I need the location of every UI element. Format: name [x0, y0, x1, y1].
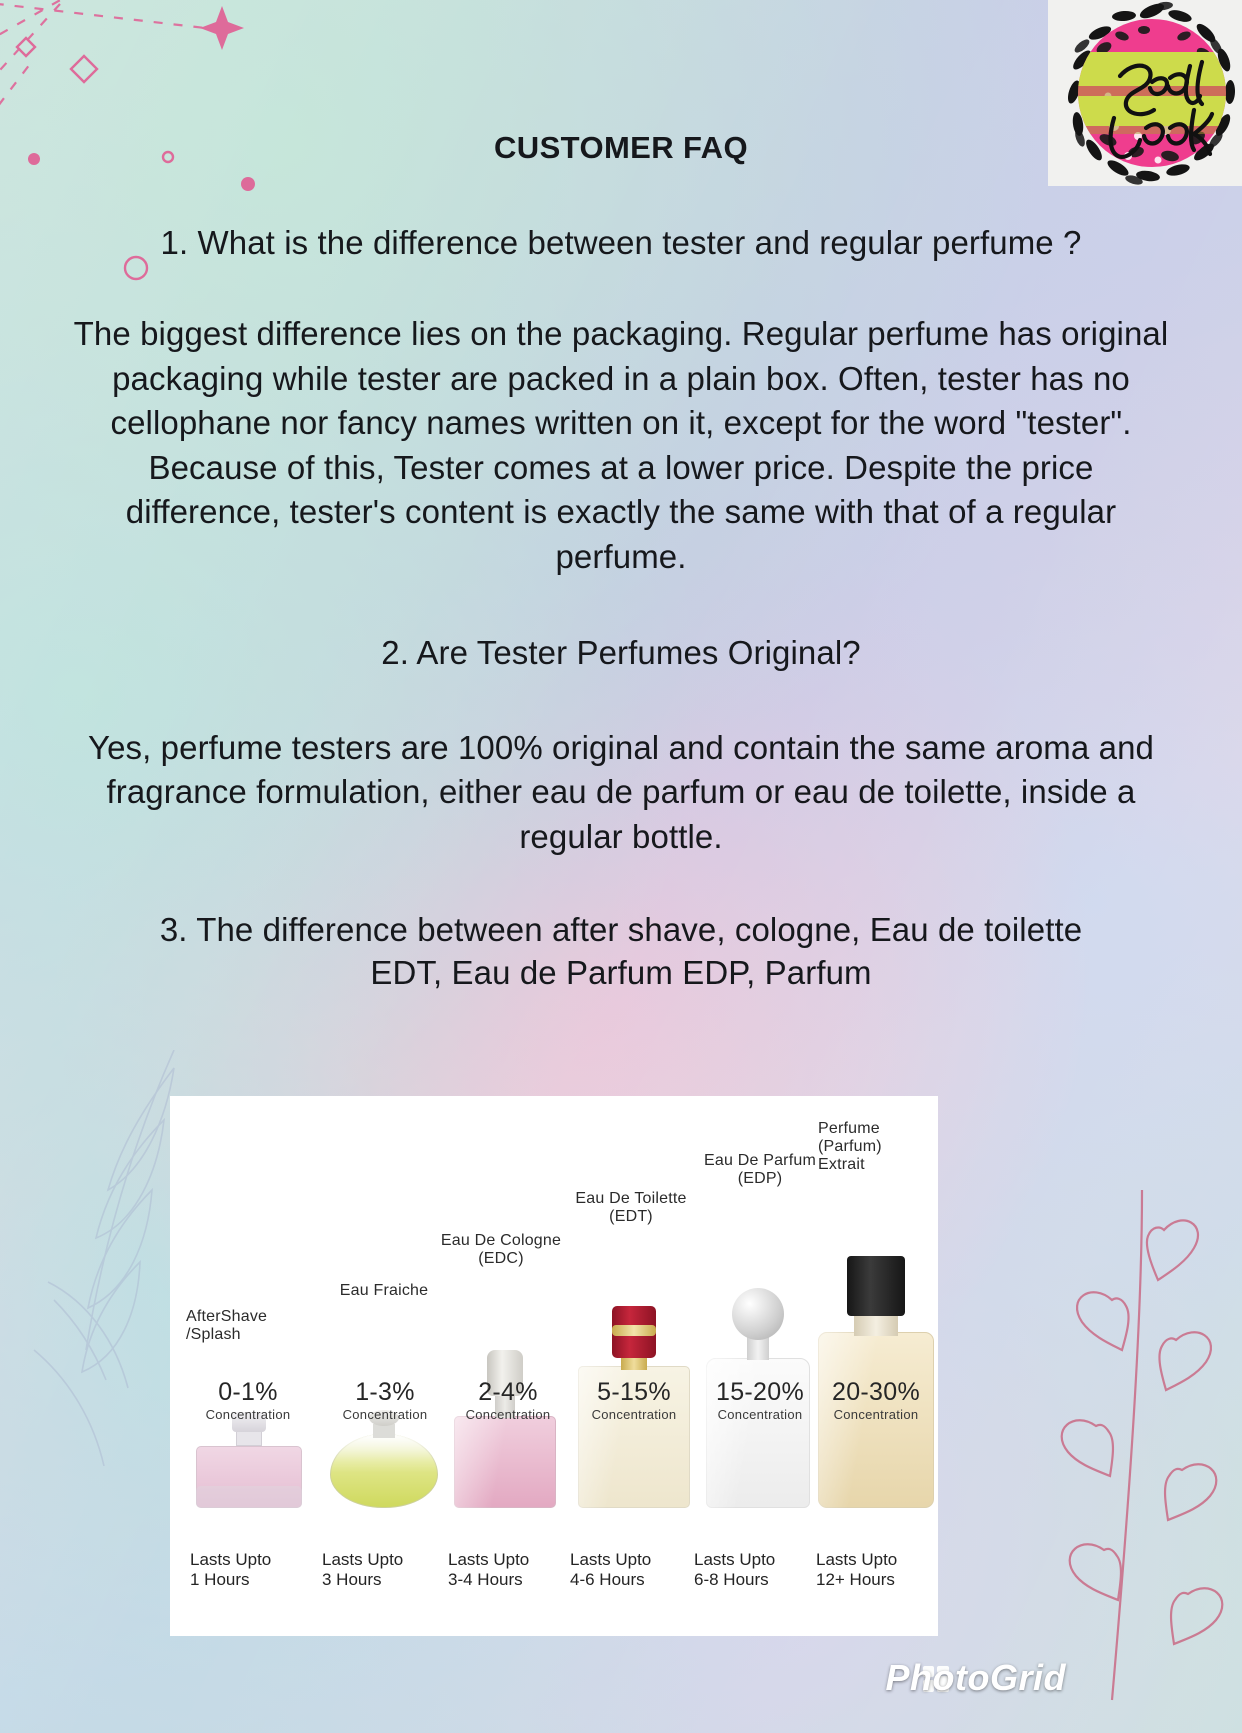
page-title: CUSTOMER FAQ: [62, 130, 1180, 166]
chart-longevity-edc: Lasts Upto 3-4 Hours: [448, 1550, 578, 1590]
chart-value-edc: 2-4% Concentration: [446, 1380, 570, 1425]
chart-label-edt: Eau De Toilette (EDT): [546, 1190, 716, 1226]
chart-longevity-edt: Lasts Upto 4-6 Hours: [570, 1550, 702, 1590]
chart-value-eau-fraiche: 1-3% Concentration: [320, 1380, 450, 1425]
chart-longevity-aftershave: Lasts Upto 1 Hours: [190, 1550, 316, 1590]
chart-pct-edt: 5-15%: [570, 1380, 698, 1405]
chart-pct-eau-fraiche: 1-3%: [320, 1380, 450, 1405]
chart-caption-aftershave: Concentration: [180, 1405, 316, 1425]
faq-answer-2: Yes, perfume testers are 100% original a…: [62, 726, 1180, 860]
chart-pct-edp: 15-20%: [692, 1380, 828, 1405]
chart-caption-parfum: Concentration: [810, 1405, 938, 1425]
bottle-parfum: [818, 1242, 934, 1508]
faq-answer-1: The biggest difference lies on the packa…: [62, 312, 1180, 579]
chart-value-edp: 15-20% Concentration: [692, 1380, 828, 1425]
chart-caption-edp: Concentration: [692, 1405, 828, 1425]
chart-label-eau-fraiche: Eau Fraiche: [314, 1282, 454, 1300]
bottle-edc: [454, 1348, 556, 1508]
chart-value-parfum: 20-30% Concentration: [810, 1380, 938, 1425]
chart-label-edc: Eau De Cologne (EDC): [412, 1232, 590, 1268]
chart-pct-aftershave: 0-1%: [180, 1380, 316, 1405]
faq-question-3: 3. The difference between after shave, c…: [62, 909, 1180, 993]
faq-question-2: 2. Are Tester Perfumes Original?: [62, 632, 1180, 674]
chart-pct-parfum: 20-30%: [810, 1380, 938, 1405]
chart-longevity-edp: Lasts Upto 6-8 Hours: [694, 1550, 828, 1590]
faq-question-1: 1. What is the difference between tester…: [62, 222, 1180, 264]
chart-longevity-parfum: Lasts Upto 12+ Hours: [816, 1550, 938, 1590]
chart-caption-eau-fraiche: Concentration: [320, 1405, 450, 1425]
chart-value-aftershave: 0-1% Concentration: [180, 1380, 316, 1425]
chart-label-parfum: Perfume (Parfum) Extrait: [818, 1120, 934, 1174]
chart-caption-edc: Concentration: [446, 1405, 570, 1425]
chart-caption-edt: Concentration: [570, 1405, 698, 1425]
chart-pct-edc: 2-4%: [446, 1380, 570, 1405]
chart-label-aftershave: AfterShave /Splash: [186, 1308, 316, 1344]
photogrid-watermark: PhotoGrid: [886, 1657, 1066, 1699]
fragrance-concentration-chart: AfterShave /Splash 0-1% Concentration La…: [170, 1096, 938, 1636]
chart-longevity-eau-fraiche: Lasts Upto 3 Hours: [322, 1550, 448, 1590]
chart-value-edt: 5-15% Concentration: [570, 1380, 698, 1425]
